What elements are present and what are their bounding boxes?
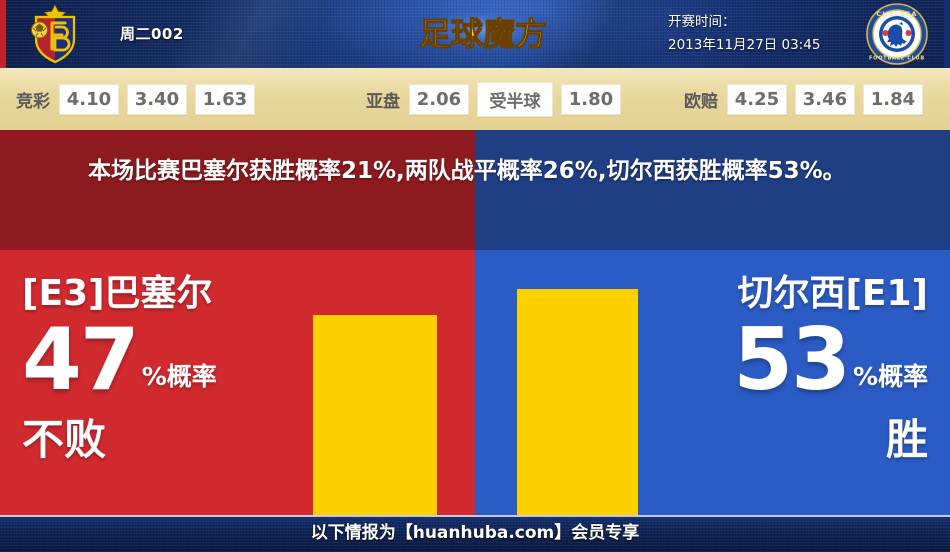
odds-group-jingcai: 竞彩 4.10 3.40 1.63: [16, 68, 255, 130]
match-probability-infographic: 周二002 足球魔方 开赛时: [0, 0, 950, 552]
svg-text:FOOTBALL CLUB: FOOTBALL CLUB: [869, 56, 925, 62]
brand-logo: 足球魔方: [408, 4, 558, 62]
euro-cell-away-win[interactable]: 1.84: [863, 84, 923, 115]
header-right-edge-strip: [944, 0, 950, 68]
home-summary-band: [0, 130, 475, 250]
header-left-edge-strip: [0, 0, 6, 68]
footer-bar: 以下情报为【huanhuba.com】会员专享: [0, 515, 950, 552]
footer-divider: [0, 515, 950, 517]
odds-group-label: 欧赔: [684, 87, 718, 112]
odds-cell-away-win[interactable]: 1.63: [195, 84, 255, 115]
handicap-cell-line[interactable]: 受半球: [477, 82, 553, 117]
away-probability-bar: [517, 289, 638, 515]
svg-text:CHELSEA: CHELSEA: [876, 10, 917, 18]
home-percent-unit: %概率: [138, 360, 217, 400]
odds-cell-draw[interactable]: 3.40: [127, 84, 187, 115]
match-number-label: 周二002: [120, 0, 184, 68]
match-header: 周二002 足球魔方 开赛时: [0, 0, 950, 68]
odds-group-label: 亚盘: [366, 87, 400, 112]
handicap-cell-home[interactable]: 2.06: [409, 84, 469, 115]
kickoff-label: 开赛时间：: [668, 11, 820, 34]
odds-group-asian-handicap: 亚盘 2.06 受半球 1.80: [366, 68, 621, 130]
handicap-cell-away[interactable]: 1.80: [561, 84, 621, 115]
home-probability-bar: [313, 315, 437, 515]
kickoff-time-block: 开赛时间： 2013年11月27日 03:45: [668, 11, 820, 57]
odds-group-label: 竞彩: [16, 87, 50, 112]
footer-membership-notice: 以下情报为【huanhuba.com】会员专享: [0, 515, 950, 552]
brand-wordmark-text: 足球魔方: [419, 15, 547, 53]
chelsea-fc-crest-icon: CHELSEA FOOTBALL CLUB: [866, 3, 928, 65]
away-percent-unit: %概率: [849, 360, 928, 400]
away-summary-band: [475, 130, 950, 250]
odds-cell-home-win[interactable]: 4.10: [59, 84, 119, 115]
euro-cell-home-win[interactable]: 4.25: [727, 84, 787, 115]
odds-bar: 竞彩 4.10 3.40 1.63 亚盘 2.06 受半球 1.80 欧赔 4.…: [0, 68, 950, 130]
home-percent-value: 47: [22, 320, 138, 400]
euro-cell-draw[interactable]: 3.46: [795, 84, 855, 115]
away-percent-value: 53: [733, 320, 849, 400]
fc-basel-crest-icon: [22, 3, 88, 65]
probability-panels: [E3]巴塞尔 47 %概率 不败 切尔西[E1] 53 %概率 胜: [0, 130, 950, 515]
odds-group-european: 欧赔 4.25 3.46 1.84: [684, 68, 923, 130]
kickoff-value: 2013年11月27日 03:45: [668, 34, 820, 57]
